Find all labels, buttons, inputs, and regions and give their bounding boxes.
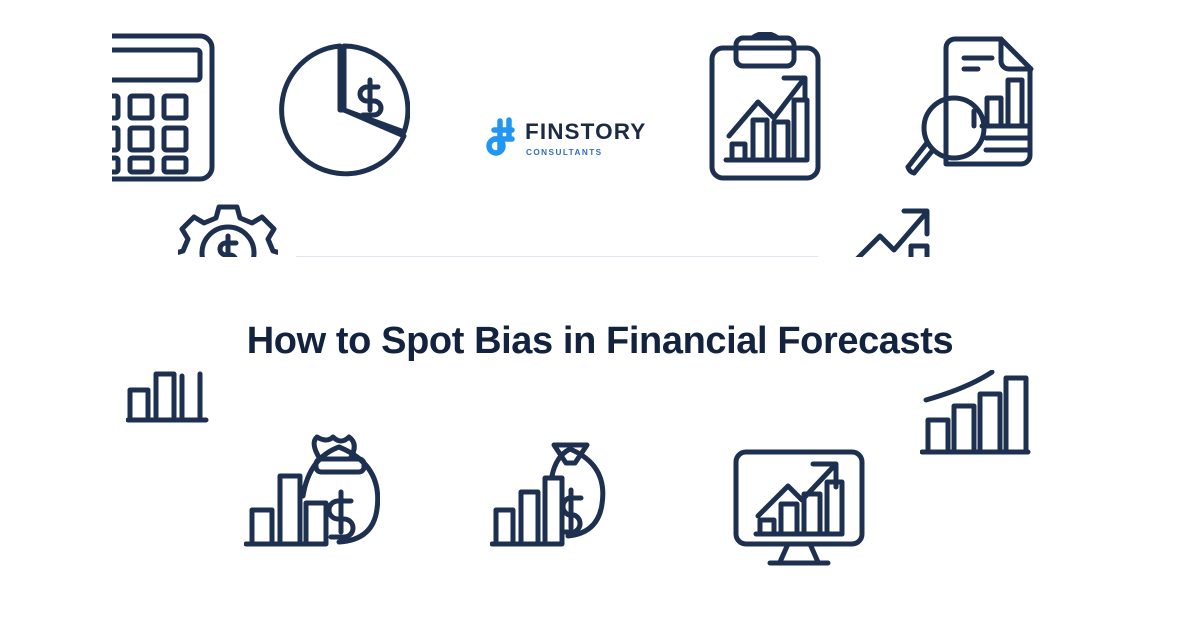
money-bag-bar-chart-icon [244,430,380,556]
brand-name: FINSTORY [525,121,646,144]
blog-banner-canvas: FINSTORY CONSULTANTS How to Spot Bias in… [0,0,1200,628]
trend-arrow-bars-icon [840,198,940,257]
bar-chart-icon [126,370,212,424]
trend-arrow-bars-icon-clip [840,198,940,257]
finstory-monogram-icon [486,117,516,157]
brand-logo-text: FINSTORY CONSULTANTS [525,117,646,157]
header-divider [296,256,818,257]
page-title: How to Spot Bias in Financial Forecasts [0,320,1200,364]
brand-logo: FINSTORY CONSULTANTS [486,117,646,157]
document-magnifier-icon [902,28,1042,188]
calculator-icon [112,30,222,185]
money-bag-growth-icon [490,440,608,552]
brand-tagline: CONSULTANTS [526,149,646,157]
growth-curve-bars-icon [920,370,1032,458]
monitor-analytics-icon [730,446,868,570]
clipboard-bar-chart-icon [706,32,824,184]
gear-dollar-icon [178,202,278,257]
gear-dollar-icon-clip [178,202,278,257]
pie-chart-dollar-icon [278,36,410,184]
